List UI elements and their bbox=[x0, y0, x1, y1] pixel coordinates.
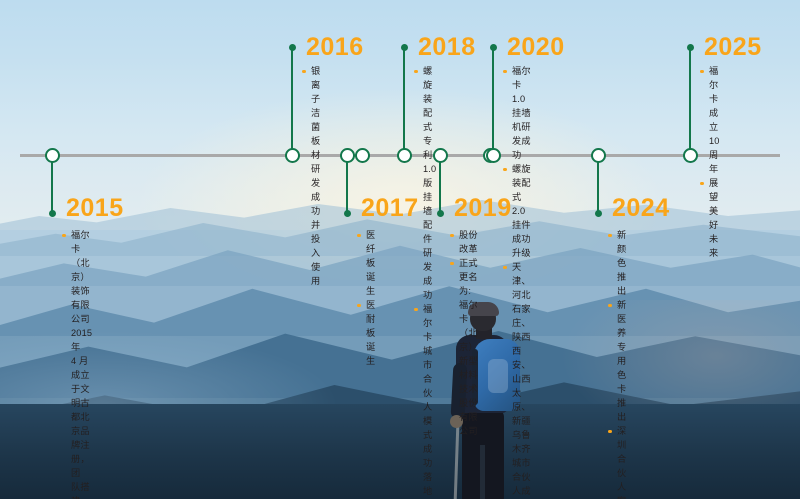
event-list-2025: 福尔卡成立 10 周年展望美好未来 bbox=[700, 64, 720, 260]
event-list-2017: 医纤板 诞生医耐板 诞生 bbox=[357, 228, 375, 368]
timeline-stem-cap bbox=[437, 210, 444, 217]
timeline-stem bbox=[492, 47, 495, 153]
timeline-stem bbox=[597, 157, 600, 214]
timeline-stem-cap bbox=[687, 44, 694, 51]
timeline-stem-cap bbox=[401, 44, 408, 51]
event-item-continuation: 股份有限公司 bbox=[450, 396, 478, 438]
event-item: 天津、 河北石家庄、陕西西安、山西太原、新疆 bbox=[503, 260, 531, 428]
timeline-infographic: 2015福尔卡（北京）装饰有限公司 2015 年4 月成立于文明古都北京品牌注册… bbox=[0, 0, 800, 499]
timeline-node-circle[interactable] bbox=[433, 148, 448, 163]
event-item: 银离子洁菌板材研发 bbox=[302, 64, 320, 190]
timeline-stem bbox=[291, 47, 294, 153]
event-item: 新颜色推出 bbox=[608, 228, 626, 298]
year-label-2025: 2025 bbox=[704, 35, 762, 60]
year-label-2018: 2018 bbox=[418, 35, 476, 60]
year-label-2016: 2016 bbox=[306, 35, 364, 60]
event-list-2015: 福尔卡（北京）装饰有限公司 2015 年4 月成立于文明古都北京品牌注册，团队搭… bbox=[62, 228, 92, 499]
timeline-stem bbox=[51, 157, 54, 214]
timeline-stem-cap bbox=[490, 44, 497, 51]
event-item-continuation: 福尔卡（北京）新型材料技术 bbox=[450, 298, 478, 396]
timeline-stem bbox=[439, 157, 442, 214]
timeline-node-circle[interactable] bbox=[683, 148, 698, 163]
event-item: 医纤板 诞生 bbox=[357, 228, 375, 298]
foreground-slope bbox=[0, 404, 800, 499]
event-item: 螺旋装配式 2.0 挂件成功升级 bbox=[503, 162, 531, 260]
year-label-2015: 2015 bbox=[66, 196, 124, 221]
event-item: 福尔卡 1.0 挂墙机研发成功 bbox=[503, 64, 531, 162]
timeline-node-circle[interactable] bbox=[591, 148, 606, 163]
timeline-stem bbox=[403, 47, 406, 153]
hiker-figure bbox=[430, 305, 550, 499]
timeline-stem-cap bbox=[344, 210, 351, 217]
timeline-stem bbox=[346, 157, 349, 214]
timeline-node-circle[interactable] bbox=[340, 148, 355, 163]
event-item-continuation: 式成功落地 bbox=[414, 428, 436, 498]
timeline-stem-cap bbox=[595, 210, 602, 217]
timeline-node-circle[interactable] bbox=[486, 148, 501, 163]
event-item-continuation: 乌鲁木齐城市合伙人成功落地 bbox=[503, 428, 531, 499]
event-item-continuation: 版挂墙配件研发成功 bbox=[414, 176, 436, 302]
hiker-leg-gap bbox=[480, 445, 485, 499]
year-label-2024: 2024 bbox=[612, 196, 670, 221]
event-item: 股份改革 bbox=[450, 228, 478, 256]
event-item: 正式更名为: bbox=[450, 256, 478, 298]
event-item: 福尔卡成立 10 周年 bbox=[700, 64, 720, 176]
event-item-continuation: 4 月成立于文明古都北京品牌注册，团 bbox=[62, 354, 92, 480]
event-list-2016: 银离子洁菌板材研发成功并投入使用 bbox=[302, 64, 320, 288]
background-photo bbox=[0, 0, 800, 499]
year-label-2020: 2020 bbox=[507, 35, 565, 60]
event-item: 福尔卡城市合伙人模 bbox=[414, 302, 436, 428]
event-item: 深圳合伙人案例落地 bbox=[608, 424, 626, 499]
timeline-stem-cap bbox=[289, 44, 296, 51]
timeline-node-circle[interactable] bbox=[285, 148, 300, 163]
timeline-stem bbox=[689, 47, 692, 153]
event-list-2018: 螺旋装配式专利 1.0版挂墙配件研发成功福尔卡城市合伙人模式成功落地 bbox=[414, 64, 436, 498]
event-item: 新医养专用色卡推出 bbox=[608, 298, 626, 424]
event-list-2024: 新颜色推出新医养专用色卡推出深圳合伙人案例落地 bbox=[608, 228, 626, 499]
event-item-continuation: 队搭建，定位医疗板材行业。 bbox=[62, 480, 92, 499]
event-item-continuation: 成功并投入使用 bbox=[302, 190, 320, 288]
timeline-node-circle[interactable] bbox=[355, 148, 370, 163]
timeline-node-circle[interactable] bbox=[45, 148, 60, 163]
event-item: 医耐板 诞生 bbox=[357, 298, 375, 368]
year-label-2017: 2017 bbox=[361, 196, 419, 221]
event-item: 福尔卡（北京）装饰有限公司 2015 年 bbox=[62, 228, 92, 354]
timeline-stem-cap bbox=[49, 210, 56, 217]
event-item: 展望美好未来 bbox=[700, 176, 720, 260]
event-list-2020: 福尔卡 1.0 挂墙机研发成功螺旋装配式 2.0 挂件成功升级天津、 河北石家庄… bbox=[503, 64, 531, 499]
event-list-2019: 股份改革正式更名为:福尔卡（北京）新型材料技术股份有限公司 bbox=[450, 228, 478, 438]
timeline-node-circle[interactable] bbox=[397, 148, 412, 163]
